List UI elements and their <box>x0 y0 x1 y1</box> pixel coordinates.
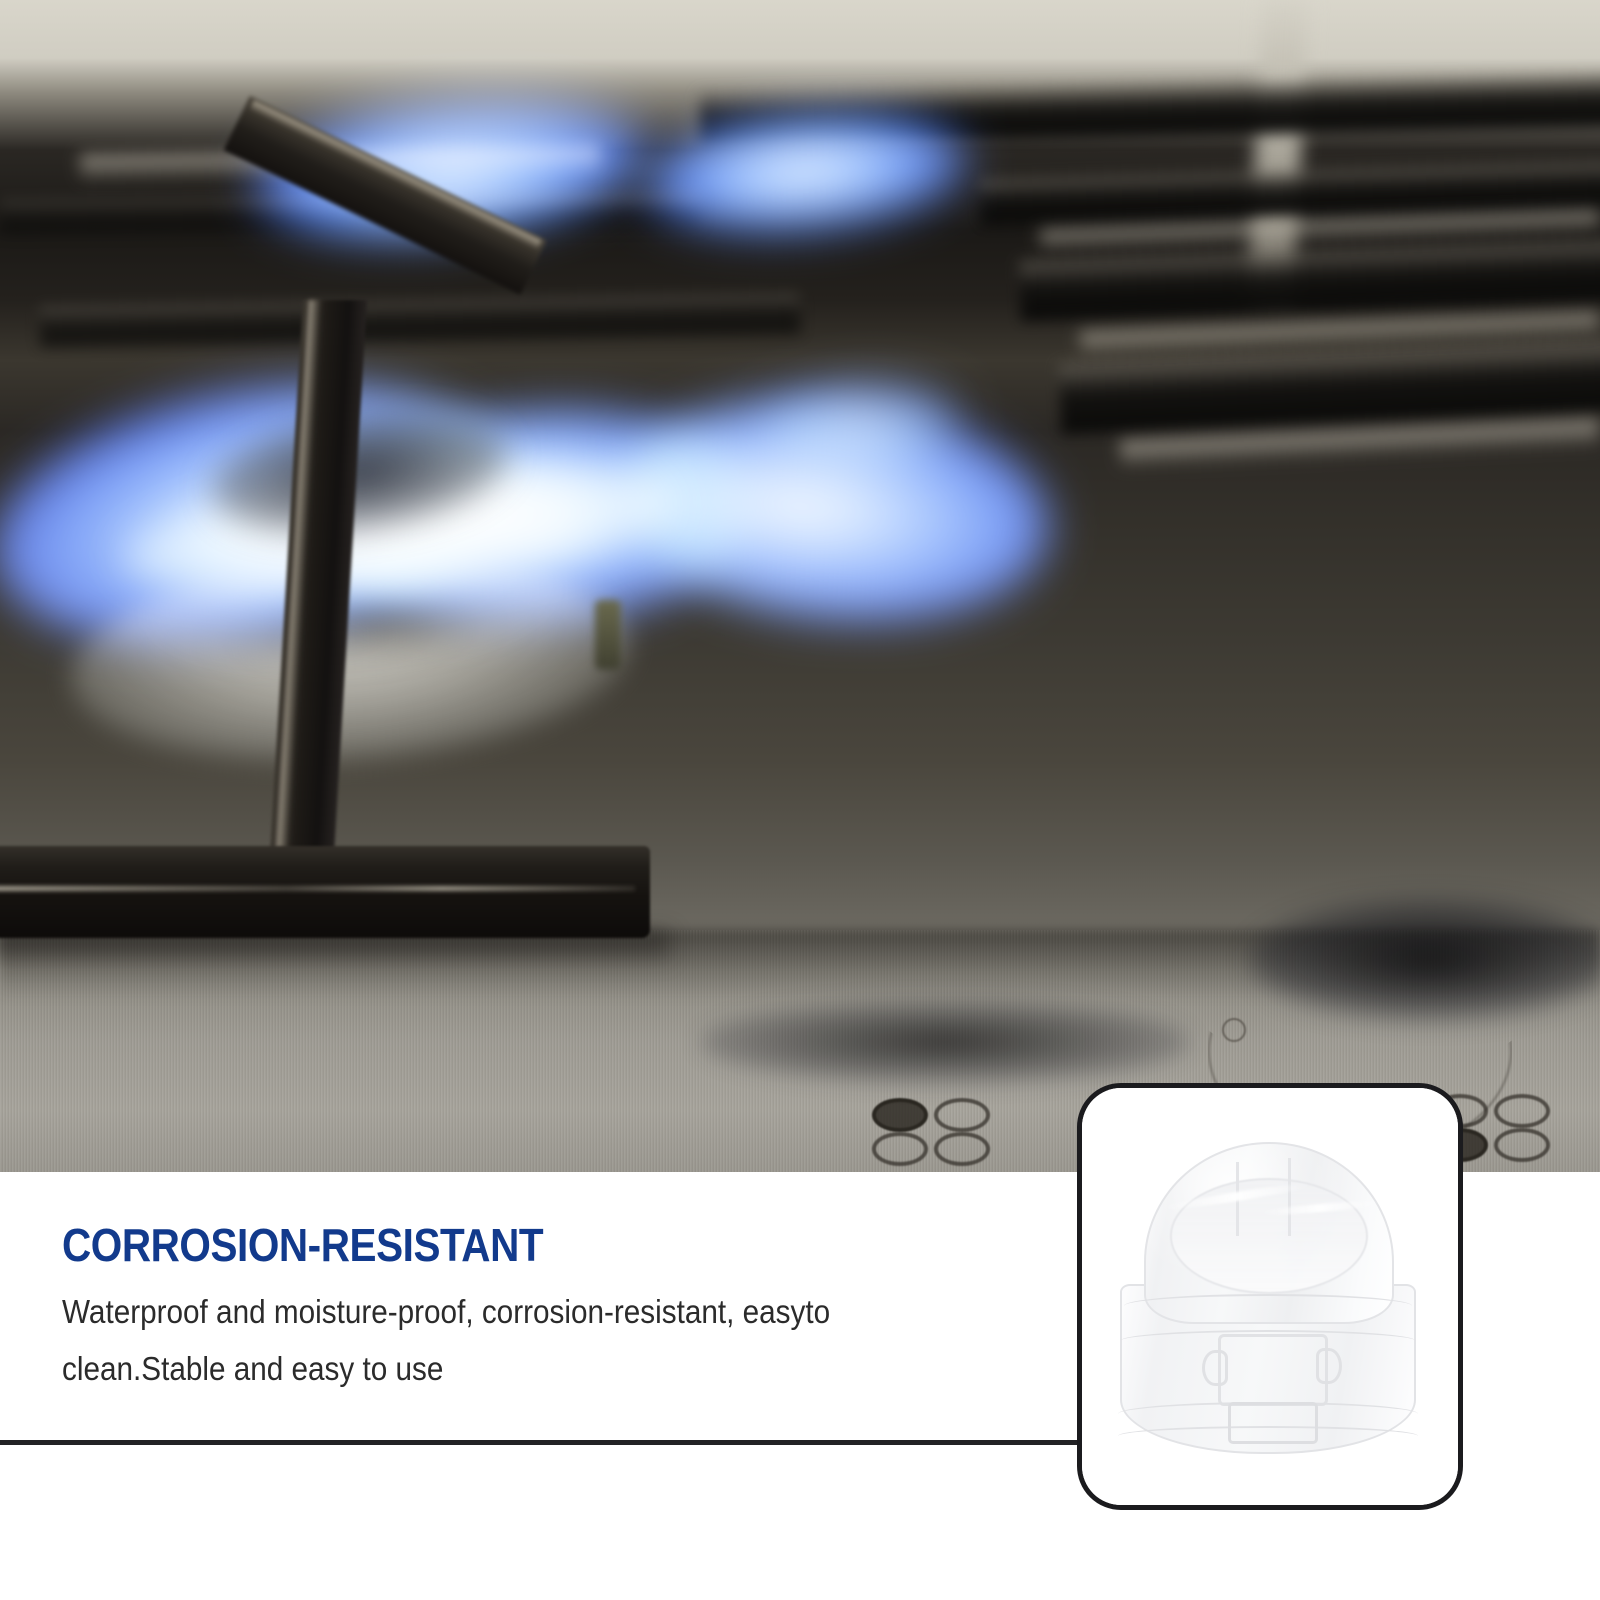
grate-foot <box>0 846 650 938</box>
inset-cover-latch <box>1228 1402 1318 1444</box>
inset-cover-rib <box>1124 1294 1412 1318</box>
knob-arc-end-mark <box>1222 1018 1246 1042</box>
burner-igniter <box>595 600 621 670</box>
burner-marking-circle <box>934 1132 990 1166</box>
clear-knob-cover-main <box>690 590 1210 1068</box>
hero-product-photo <box>0 0 1600 1172</box>
burner-marking-circle <box>934 1098 990 1132</box>
burner-marking-circle <box>872 1132 928 1166</box>
clear-knob-cover-inset <box>1110 1134 1426 1464</box>
inset-cover-window <box>1218 1334 1328 1406</box>
panel-divider-rule <box>0 1440 1077 1445</box>
inset-cover-side-hole <box>1202 1350 1228 1386</box>
burner-marking-circle <box>872 1098 928 1132</box>
product-marketing-image: CORROSION-RESISTANT Waterproof and moist… <box>0 0 1600 1600</box>
inset-cover-internal-post <box>1288 1158 1291 1236</box>
inset-white-backdrop <box>1082 1088 1458 1505</box>
inset-cover-side-hole <box>1316 1348 1342 1384</box>
burner-marking-circle <box>1494 1128 1550 1162</box>
product-inset-card <box>1077 1083 1463 1510</box>
stove-control-knob <box>1242 632 1600 972</box>
grate-foot-highlight <box>0 886 635 891</box>
burner-marking-circle <box>1494 1094 1550 1128</box>
feature-headline: CORROSION-RESISTANT <box>62 1218 543 1272</box>
feature-description: Waterproof and moisture-proof, corrosion… <box>62 1284 971 1398</box>
